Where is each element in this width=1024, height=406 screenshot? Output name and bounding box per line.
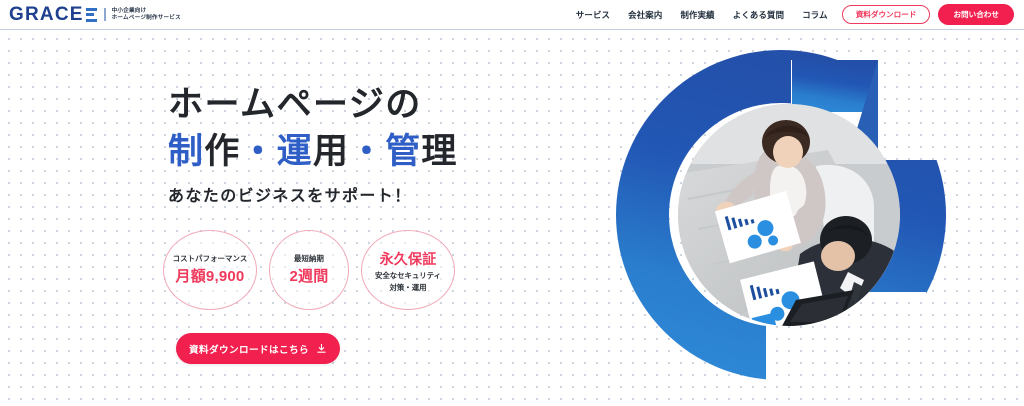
tagline-line-2: ホームページ制作サービス <box>112 15 181 22</box>
headline-line-2: 制作・運用・管理 <box>168 131 508 172</box>
headline-char-4: 運 <box>277 132 313 171</box>
badge-2-label: 最短納期 <box>294 254 324 264</box>
headline-char-1: 制 <box>168 132 204 171</box>
header-download-button[interactable]: 資料ダウンロード <box>842 5 931 24</box>
headline-line-1: ホームページの <box>168 84 508 125</box>
business-meeting-photo <box>678 104 900 326</box>
logo-wordmark: GRACE <box>9 5 97 24</box>
badge-3-value: 永久保証 <box>380 249 437 269</box>
download-icon <box>316 343 327 354</box>
headline-char-6: ・ <box>349 132 385 171</box>
headline-char-2: 作 <box>204 132 240 171</box>
nav-item-service[interactable]: サービス <box>576 9 610 21</box>
nav-item-works[interactable]: 制作実績 <box>680 9 714 21</box>
badge-1-value: 月額9,900 <box>176 265 245 286</box>
tagline-line-1: 中小企業向け <box>112 8 181 15</box>
headline-char-3: ・ <box>240 132 276 171</box>
nav-item-column[interactable]: コラム <box>802 9 827 21</box>
headline-char-7: 管 <box>385 132 421 171</box>
badge-delivery-time: 最短納期 2週間 <box>269 230 349 310</box>
brand-tagline: 中小企業向け ホームページ制作サービス <box>104 8 181 22</box>
nav-item-company[interactable]: 会社案内 <box>628 9 662 21</box>
badge-3-sub-line-2: 対策・運用 <box>390 283 427 293</box>
landing-page: GRACE 中小企業向け ホームページ制作サービス サービス 会社案内 制作実績… <box>0 0 1024 406</box>
hero-download-cta-button[interactable]: 資料ダウンロードはこちら <box>176 333 340 364</box>
headline-char-8: 理 <box>421 132 457 171</box>
grace-e-bars-icon <box>86 8 97 22</box>
photo-illustration <box>678 104 900 326</box>
headline-char-5: 用 <box>313 132 349 171</box>
brand-logo[interactable]: GRACE 中小企業向け ホームページ制作サービス <box>9 5 181 24</box>
badge-permanent-warranty: 永久保証 安全なセキュリティ 対策・運用 <box>361 230 455 310</box>
hero-copy: ホームページの 制作・運用・管理 あなたのビジネスをサポート！ <box>168 84 508 206</box>
nav-item-faq[interactable]: よくある質問 <box>733 9 784 21</box>
feature-badges: コストパフォーマンス 月額9,900 最短納期 2週間 永久保証 安全なセキュリ… <box>163 230 467 310</box>
main-navigation: サービス 会社案内 制作実績 よくある質問 コラム 資料ダウンロード お問い合わ… <box>576 4 1014 25</box>
cta-label: 資料ダウンロードはこちら <box>189 342 309 356</box>
hero-visual <box>616 42 946 382</box>
badge-cost-performance: コストパフォーマンス 月額9,900 <box>163 230 257 310</box>
header-contact-button[interactable]: お問い合わせ <box>938 4 1014 25</box>
badge-1-label: コストパフォーマンス <box>173 254 248 264</box>
badge-3-sub-line-1: 安全なセキュリティ <box>375 271 441 281</box>
sub-headline: あなたのビジネスをサポート！ <box>168 182 508 206</box>
badge-2-value: 2週間 <box>290 265 329 286</box>
logo-text: GRACE <box>9 5 84 24</box>
site-header: GRACE 中小企業向け ホームページ制作サービス サービス 会社案内 制作実績… <box>0 0 1024 30</box>
